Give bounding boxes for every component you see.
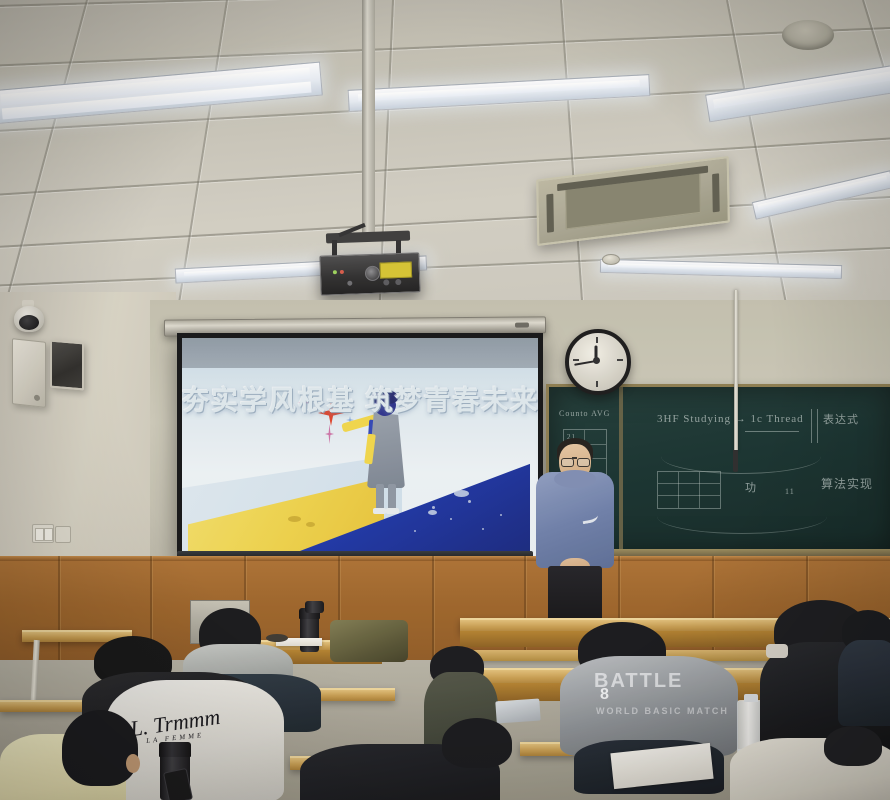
student-navy-coat [838,640,890,726]
teacher-hood-collar [554,470,596,488]
student-hair [62,710,138,786]
teacher-trousers [548,566,602,623]
chalk-scribble: 11 [785,487,795,496]
slide-content: 夯实学风根基 筑梦青春未来 [182,338,538,556]
screen-pull-knob[interactable] [515,322,529,327]
tablet-screen[interactable] [495,698,540,723]
projector-sticker [380,262,413,279]
chalk-text-1: Counto AVG [559,409,610,418]
ceiling-air-conditioner [536,156,730,246]
glasses-icon [561,458,574,467]
slide-top-band [182,338,538,368]
wall-speaker [12,338,46,408]
fluorescent-light [600,259,842,279]
slide-crater [428,510,437,515]
student-cream-coat-right [730,726,890,800]
slide-figure-leg [388,484,396,510]
ceiling-vent [782,20,834,50]
student-hair [442,718,512,768]
pull-rod-tip [733,450,738,472]
slide-star-small [325,424,334,444]
student-grey-jersey: BATTLE 8 WORLD BASIC MATCH [560,622,740,762]
slide-title: 夯实学风根基 筑梦青春未来 [182,386,538,416]
ceiling [0,0,890,318]
wall-clock [565,329,631,395]
slide-crater [454,490,469,497]
projector-mount-pole [362,0,375,236]
window-pull-rod[interactable] [734,290,738,452]
fluorescent-light [348,74,651,112]
slide-figure-shoe [386,508,399,514]
student-head-right [824,726,882,766]
student-ear [126,754,140,773]
power-outlet[interactable] [55,526,71,543]
student-yellow-hoodie [0,710,150,800]
dome-camera-icon [14,306,44,332]
jersey-subtext: WORLD BASIC MATCH [596,706,729,716]
slide-figure-shoe [373,508,386,514]
fluorescent-light [705,62,890,123]
fluorescent-light [752,170,890,219]
glasses-icon [577,458,590,467]
ceiling-projector [319,252,420,295]
slide-figure-leg [376,484,384,510]
chalk-text-3: 表达式 [823,411,859,427]
face-mask-icon [766,644,788,658]
chalk-text-2: 3HF Studying → 1c Thread [657,413,804,425]
smoke-detector [602,254,620,265]
slide-crater [306,522,315,527]
slide-crater [288,516,301,522]
student-navy-jacket [842,610,890,720]
light-switch[interactable] [32,524,54,543]
chalk-scribble: 算法实现 [821,475,873,492]
classroom-photo: 夯实学风根基 筑梦青春未来 Counto AVG 21 75 76 3HF St… [0,0,890,800]
dark-control-panel [50,340,84,391]
projection-screen: 夯实学风根基 筑梦青春未来 [177,333,543,561]
teacher [524,438,624,623]
chalk-scribble: 功 [745,479,757,495]
student-center-bottom [300,718,500,800]
jersey-number: 8 [600,686,609,704]
backpack[interactable] [330,620,408,662]
